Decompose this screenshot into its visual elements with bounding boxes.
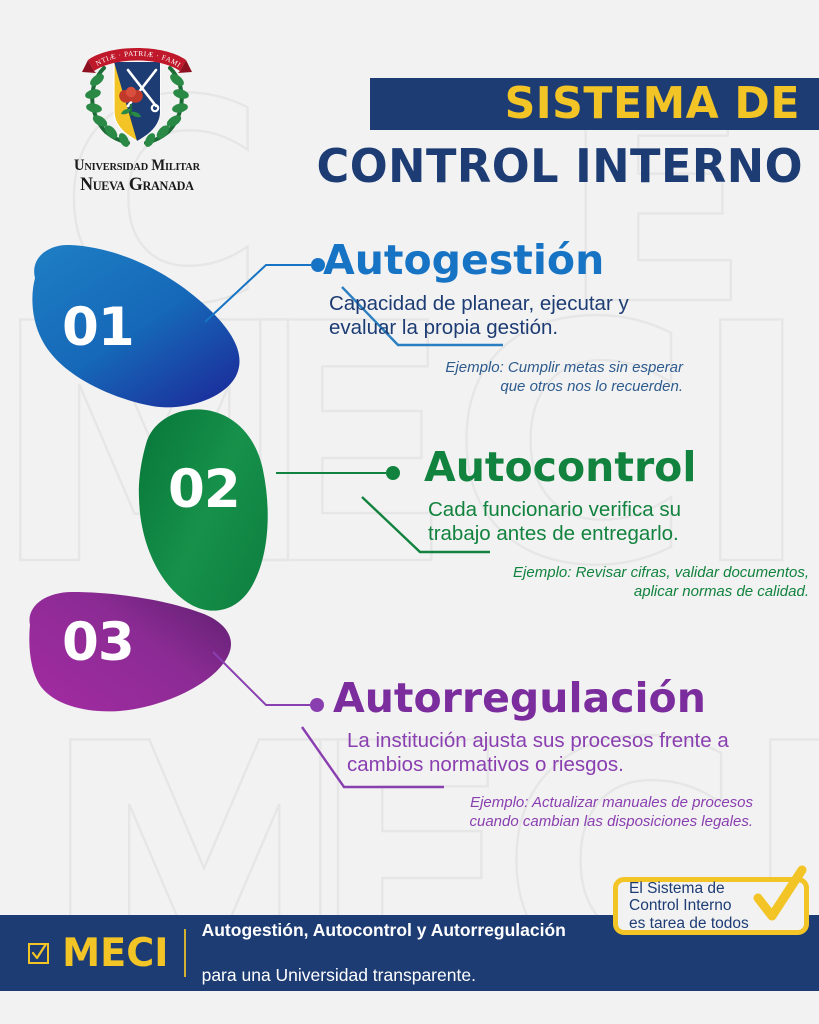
footer-divider xyxy=(184,929,186,977)
step-block-02: Autocontrol Cada funcionario verifica su… xyxy=(424,447,819,602)
step-badge-02-shape xyxy=(139,409,268,610)
step-badge-01-shape xyxy=(32,245,239,407)
step-title-03: Autorregulación xyxy=(333,678,793,719)
university-name-line1: Universidad Militar xyxy=(74,158,200,174)
step-badge-03-shape xyxy=(29,592,231,711)
title-line-2: CONTROL INTERNO xyxy=(317,143,803,189)
step-description-01: Capacidad de planear, ejecutar y evaluar… xyxy=(329,292,793,340)
step-description-02: Cada funcionario verifica su trabajo ant… xyxy=(428,498,819,546)
checkbox-check-icon xyxy=(26,940,52,966)
step-example-03: Ejemplo: Actualizar manuales de procesos… xyxy=(333,794,753,832)
callout-text: El Sistema de Control Interno es tarea d… xyxy=(629,880,749,932)
poster-header: SCIENTIÆ · PATRIÆ · FAMILIÆ Universidad … xyxy=(0,0,819,225)
step-example-02: Ejemplo: Revisar cifras, validar documen… xyxy=(424,564,809,602)
title-line-1: SISTEMA DE xyxy=(505,82,800,126)
university-logo: SCIENTIÆ · PATRIÆ · FAMILIÆ Universidad … xyxy=(62,38,212,198)
footer-brand-meci: MECI xyxy=(62,934,168,973)
title-banner: SISTEMA DE xyxy=(370,78,819,130)
step-example-01: Ejemplo: Cumplir metas sin esperar que o… xyxy=(323,359,683,397)
footer-tagline-line2: para una Universidad transparente. xyxy=(202,964,566,987)
footer-tagline-line1: Autogestión, Autocontrol y Autorregulaci… xyxy=(202,919,566,942)
callout-badge: El Sistema de Control Interno es tarea d… xyxy=(613,877,809,935)
step-block-01: Autogestión Capacidad de planear, ejecut… xyxy=(323,240,793,397)
step-title-02: Autocontrol xyxy=(424,447,819,488)
footer-tagline: Autogestión, Autocontrol y Autorregulaci… xyxy=(202,896,566,1010)
poster-canvas: .wmtxt { font-family:"DejaVu Sans", sans… xyxy=(0,0,819,1024)
big-checkmark-icon xyxy=(750,864,808,930)
step-description-03: La institución ajusta sus procesos frent… xyxy=(347,729,793,777)
university-name-line2: Nueva Granada xyxy=(74,175,200,194)
university-crest-icon: SCIENTIÆ · PATRIÆ · FAMILIÆ xyxy=(76,38,198,156)
step-title-01: Autogestión xyxy=(323,240,793,281)
step-block-03: Autorregulación La institución ajusta su… xyxy=(333,678,793,832)
